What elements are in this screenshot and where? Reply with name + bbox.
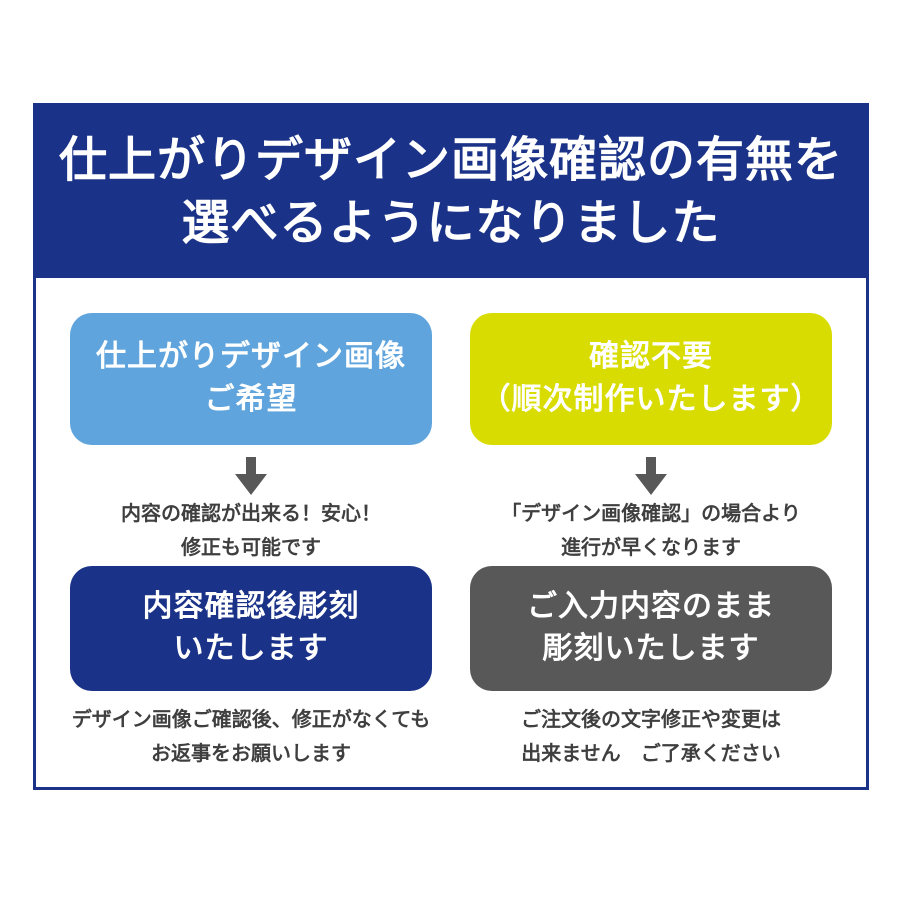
caption-line-2: 修正も可能です	[121, 531, 381, 565]
result-box-line-1: ご入力内容のまま	[527, 586, 775, 629]
caption-line-2: 出来ません ご了承ください	[521, 737, 781, 771]
arrow-down-icon	[231, 457, 271, 495]
arrow-down-icon	[631, 457, 671, 495]
caption-line-2: 進行が早くなります	[501, 531, 801, 565]
comparison-columns: 仕上がりデザイン画像 ご希望 内容の確認が出来る！安心！ 修正も可能です 内容確…	[36, 282, 866, 787]
result-box-line-2: いたします	[174, 628, 329, 671]
option-box-design-image-request[interactable]: 仕上がりデザイン画像 ご希望	[70, 313, 432, 445]
option-box-line-2: （順次制作いたします）	[481, 379, 822, 422]
caption-line-1: 「デザイン画像確認」の場合より	[501, 497, 801, 531]
caption-benefit-right: 「デザイン画像確認」の場合より 進行が早くなります	[501, 497, 801, 566]
result-box-engrave-as-entered[interactable]: ご入力内容のまま 彫刻いたします	[470, 566, 832, 691]
infographic-canvas: 仕上がりデザイン画像確認の有無を 選べるようになりました 仕上がりデザイン画像 …	[0, 0, 900, 900]
option-box-line-1: 確認不要	[589, 336, 713, 379]
caption-note-left: デザイン画像ご確認後、修正がなくても お返事をお願いします	[72, 703, 430, 772]
caption-line-1: 内容の確認が出来る！安心！	[121, 497, 381, 531]
caption-line-1: デザイン画像ご確認後、修正がなくても	[72, 703, 430, 737]
column-without-confirmation: 確認不要 （順次制作いたします） 「デザイン画像確認」の場合より 進行が早くなり…	[470, 282, 832, 787]
option-box-line-2: ご希望	[205, 379, 298, 422]
caption-note-right: ご注文後の文字修正や変更は 出来ません ご了承ください	[521, 703, 781, 772]
result-box-engrave-after-confirmation[interactable]: 内容確認後彫刻 いたします	[70, 566, 432, 691]
caption-line-2: お返事をお願いします	[72, 737, 430, 771]
result-box-line-1: 内容確認後彫刻	[143, 586, 360, 629]
header-title-line-1: 仕上がりデザイン画像確認の有無を	[59, 129, 843, 192]
caption-benefit-left: 内容の確認が出来る！安心！ 修正も可能です	[121, 497, 381, 566]
header-banner: 仕上がりデザイン画像確認の有無を 選べるようになりました	[36, 106, 866, 278]
option-box-line-1: 仕上がりデザイン画像	[96, 336, 406, 379]
result-box-line-2: 彫刻いたします	[543, 628, 760, 671]
caption-line-1: ご注文後の文字修正や変更は	[521, 703, 781, 737]
column-with-confirmation: 仕上がりデザイン画像 ご希望 内容の確認が出来る！安心！ 修正も可能です 内容確…	[70, 282, 432, 787]
header-title-line-2: 選べるようになりました	[181, 192, 720, 255]
option-box-no-confirmation[interactable]: 確認不要 （順次制作いたします）	[470, 313, 832, 445]
